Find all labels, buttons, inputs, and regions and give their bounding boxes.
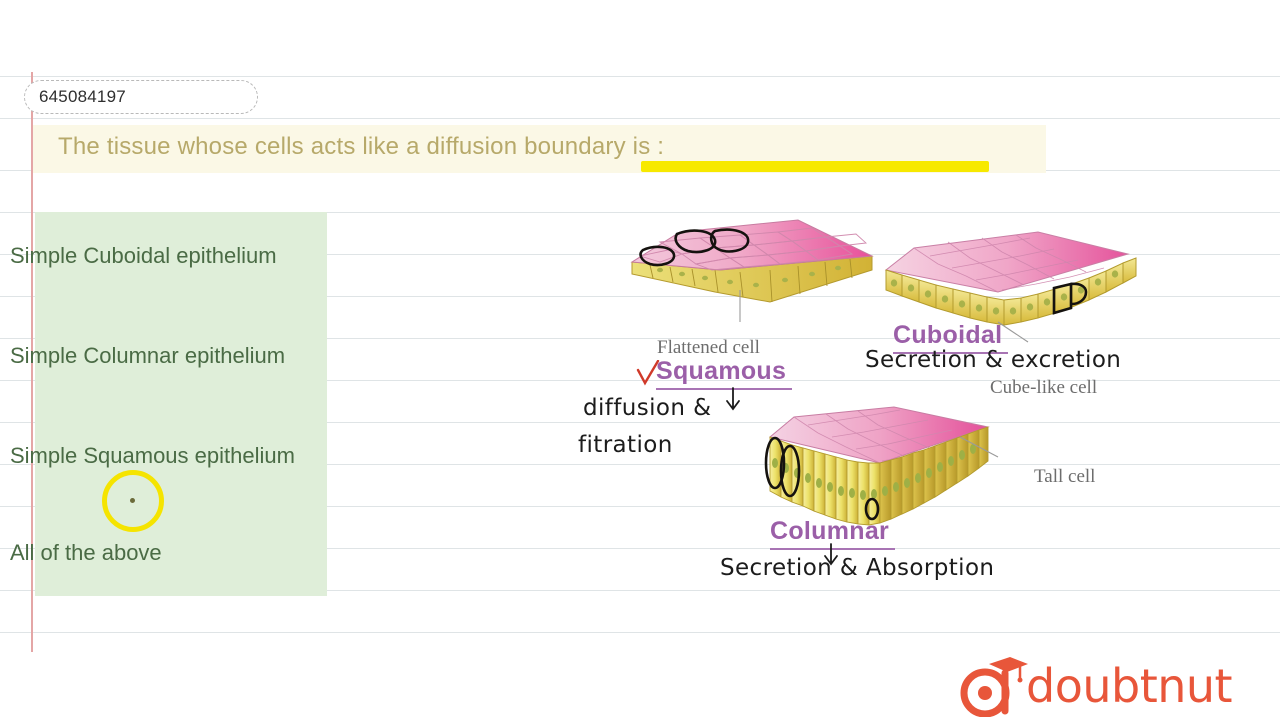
- option-item-3[interactable]: Simple Squamous epithelium: [10, 443, 295, 469]
- cuboidal-handwritten-line-1: Secretion & excretion: [865, 347, 1121, 373]
- option-item-2[interactable]: Simple Columnar epithelium: [10, 343, 285, 369]
- yellow-highlight-underline: [641, 161, 989, 172]
- cuboidal-cell-label: Cube-like cell: [990, 377, 1097, 399]
- option-item-1[interactable]: Simple Cuboidal epithelium: [10, 243, 277, 269]
- screenshot-canvas: 645084197 The tissue whose cells acts li…: [0, 0, 1280, 720]
- squamous-handwritten-line-1: diffusion &: [583, 395, 711, 421]
- doubtnut-logo: doubtnut: [958, 663, 1258, 713]
- columnar-type-label: Columnar: [770, 517, 889, 546]
- cursor-dot: [130, 498, 135, 503]
- doubtnut-d-icon: [958, 655, 1030, 717]
- option-item-4[interactable]: All of the above: [10, 540, 162, 566]
- cuboidal-type-label: Cuboidal: [893, 321, 1002, 350]
- question-text: The tissue whose cells acts like a diffu…: [58, 133, 1058, 161]
- squamous-type-label: Squamous: [656, 357, 786, 386]
- doubtnut-wordmark: doubtnut: [1026, 659, 1232, 713]
- squamous-handwritten-line-2: fitration: [578, 432, 673, 458]
- columnar-handwritten-line-1: Secretion & Absorption: [720, 555, 994, 581]
- squamous-tissue-illustration: [620, 210, 880, 330]
- squamous-cell-label: Flattened cell: [657, 337, 760, 359]
- options-panel: [35, 212, 327, 596]
- question-id-chip[interactable]: 645084197: [24, 80, 258, 114]
- epithelium-diagram: Flattened cell Squamous diffusion & fitr…: [600, 195, 1200, 615]
- columnar-cell-label: Tall cell: [1034, 466, 1095, 488]
- question-id-text: 645084197: [39, 87, 126, 107]
- squamous-down-arrow-icon: [724, 387, 742, 413]
